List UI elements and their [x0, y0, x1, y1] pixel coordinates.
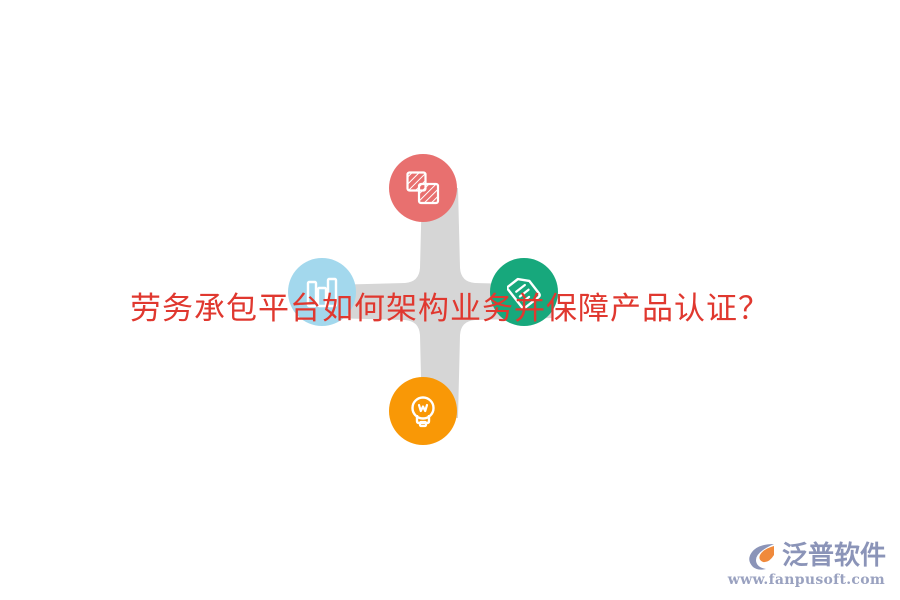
layers-copy-icon	[406, 171, 440, 205]
node-top-layers[interactable]	[389, 154, 457, 222]
page-canvas: 劳务承包平台如何架构业务并保障产品认证？ 泛普软件 www.fanpusoft.…	[0, 0, 900, 600]
fanpu-c-mark-icon	[744, 541, 778, 571]
brand-url: www.fanpusoft.com	[728, 572, 885, 588]
brand-watermark: 泛普软件 www.fanpusoft.com	[728, 541, 886, 588]
node-bottom-lightbulb[interactable]	[389, 377, 457, 445]
page-title: 劳务承包平台如何架构业务并保障产品认证？	[0, 289, 900, 329]
lightbulb-icon	[406, 394, 440, 428]
brand-logo-row: 泛普软件	[744, 541, 886, 571]
brand-name: 泛普软件	[782, 542, 886, 570]
